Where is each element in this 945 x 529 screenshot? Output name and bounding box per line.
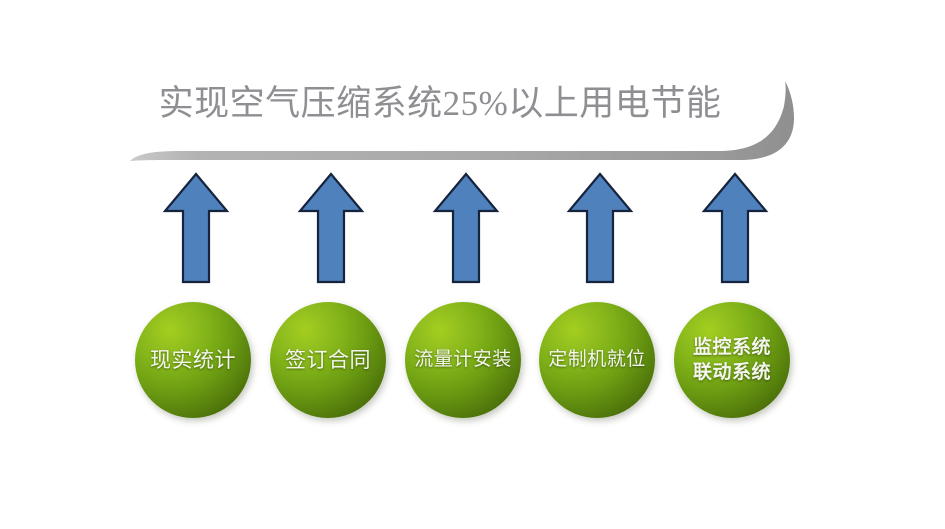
step-node-label-5: 监控系统 联动系统 <box>689 335 775 385</box>
step-node-4[interactable]: 定制机就位 <box>539 302 655 418</box>
arrow-up-icon-2 <box>297 171 365 285</box>
arrow-up-icon-1 <box>162 171 230 285</box>
step-node-3[interactable]: 流量计安装 <box>405 302 521 418</box>
page-title: 实现空气压缩系统25%以上用电节能 <box>140 82 740 126</box>
step-node-label-3: 流量计安装 <box>410 347 516 373</box>
step-node-label-4: 定制机就位 <box>544 347 650 373</box>
arrow-up-icon-4 <box>566 171 634 285</box>
step-node-5[interactable]: 监控系统 联动系统 <box>674 302 790 418</box>
step-node-label-1: 现实统计 <box>146 347 240 373</box>
step-node-2[interactable]: 签订合同 <box>270 302 386 418</box>
title-band: 实现空气压缩系统25%以上用电节能 <box>0 34 945 149</box>
step-node-label-2: 签订合同 <box>281 347 375 373</box>
slide-canvas: 实现空气压缩系统25%以上用电节能 现实统计 签订合同 流量计安装 定制机就位 … <box>0 0 945 529</box>
arrow-up-icon-5 <box>701 171 769 285</box>
step-node-1[interactable]: 现实统计 <box>135 302 251 418</box>
arrow-up-icon-3 <box>432 171 500 285</box>
